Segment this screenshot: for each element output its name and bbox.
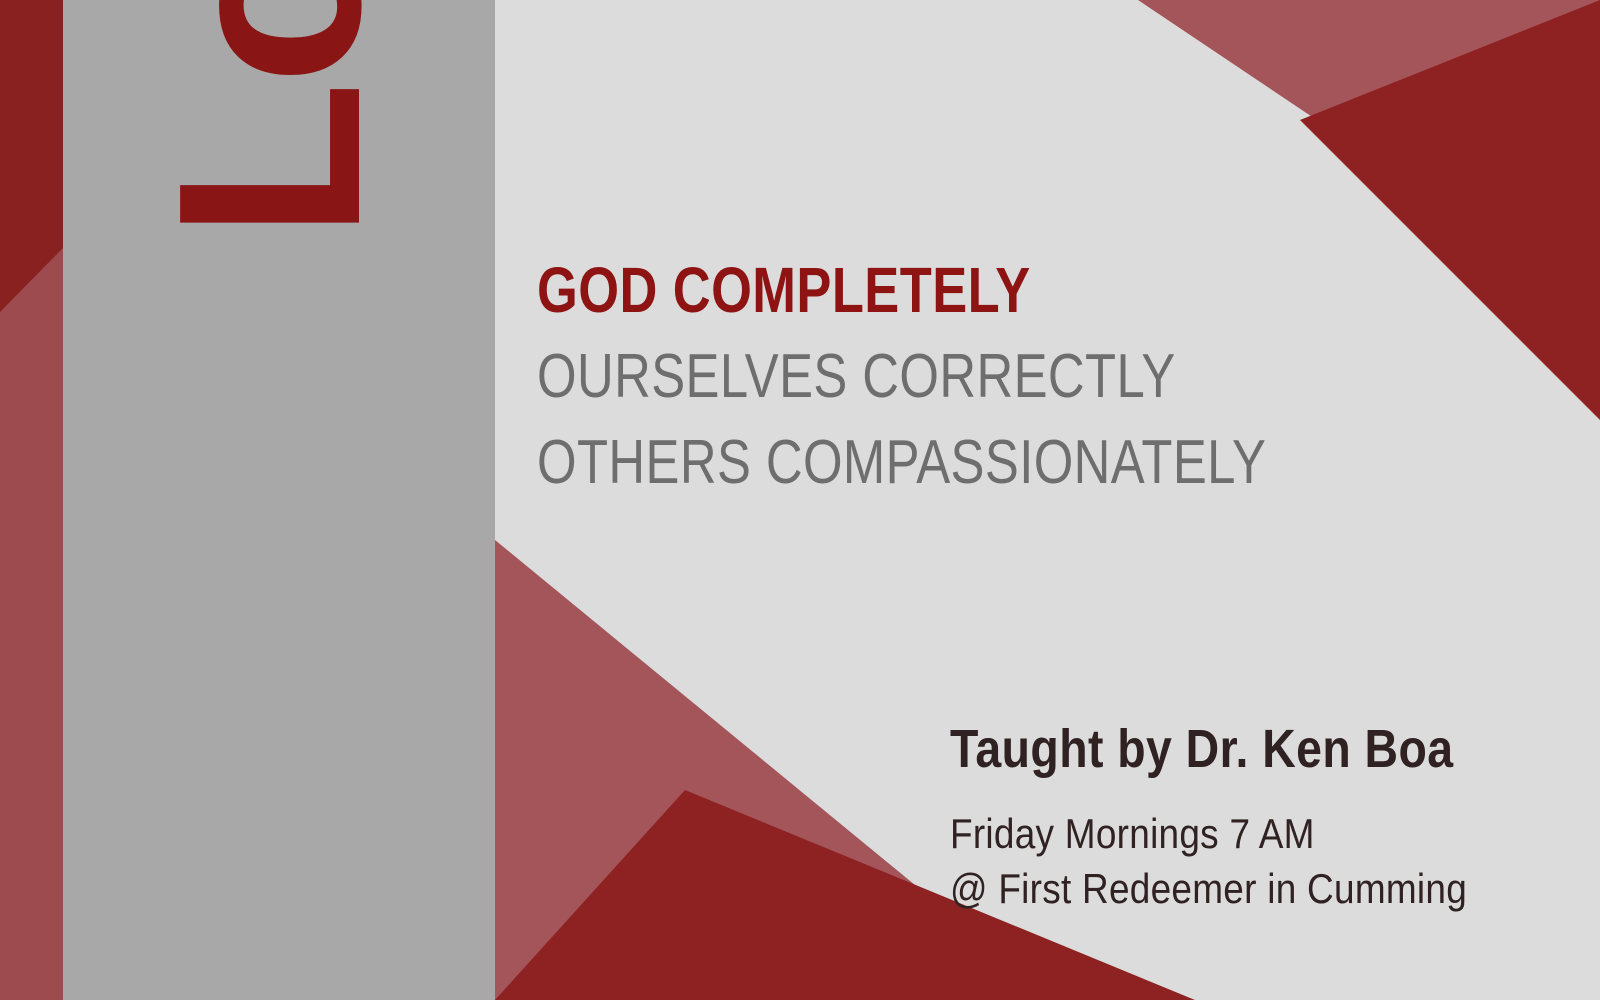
info-block: Taught by Dr. Ken Boa Friday Mornings 7 …: [950, 718, 1570, 917]
schedule-line: Friday Mornings 7 AM: [950, 806, 1496, 861]
gray-panel-shape: [63, 0, 495, 1000]
headline-line-others-compassionately: OTHERS COMPASSIONATELY: [537, 420, 1275, 506]
headline-line-god-completely: GOD COMPLETELY: [537, 246, 1275, 334]
location-line: @ First Redeemer in Cumming: [950, 861, 1496, 916]
headline-block: GOD COMPLETELY OURSELVES CORRECTLY OTHER…: [537, 246, 1437, 505]
poster-canvas: Loving GOD COMPLETELY OURSELVES CORRECTL…: [0, 0, 1600, 1000]
headline-line-ourselves-correctly: OURSELVES CORRECTLY: [537, 334, 1275, 420]
instructor-line: Taught by Dr. Ken Boa: [950, 718, 1483, 780]
